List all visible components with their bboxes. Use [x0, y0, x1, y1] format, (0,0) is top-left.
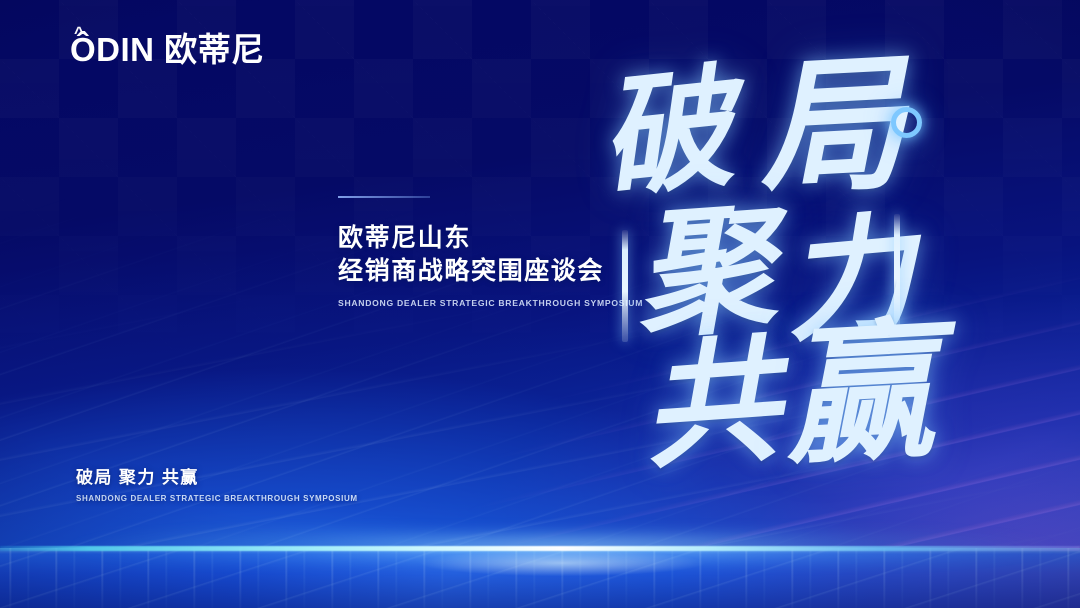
calligraphy-char-po: 破	[593, 61, 738, 206]
title-rule-divider	[338, 196, 430, 198]
calligraphy-char-gong: 共	[638, 332, 783, 477]
event-subtitle-en: SHANDONG DEALER STRATEGIC BREAKTHROUGH S…	[338, 298, 598, 308]
slogan-english: SHANDONG DEALER STRATEGIC BREAKTHROUGH S…	[76, 494, 358, 503]
calligraphy-headline: 破 局 聚 力 共 赢	[588, 52, 1008, 472]
logo-wordmark: ^ ÔDIN 欧蒂尼	[70, 33, 265, 66]
logo-circumflex-icon: ^	[74, 24, 84, 41]
horizon-light-line	[0, 546, 1080, 551]
slogan-chinese: 破局 聚力 共赢	[76, 468, 358, 488]
bottom-slogan-block: 破局 聚力 共赢 SHANDONG DEALER STRATEGIC BREAK…	[76, 468, 358, 503]
event-backdrop-poster: ^ ÔDIN 欧蒂尼 欧蒂尼山东 经销商战略突围座谈会 SHANDONG DEA…	[0, 0, 1080, 608]
event-title-line-1: 欧蒂尼山东	[338, 222, 598, 255]
brand-logo: ^ ÔDIN 欧蒂尼	[70, 33, 265, 66]
calligraphy-ring-icon	[891, 107, 922, 138]
calligraphy-bar-left	[622, 230, 628, 342]
calligraphy-char-ying: 赢	[780, 316, 938, 474]
event-title-block: 欧蒂尼山东 经销商战略突围座谈会 SHANDONG DEALER STRATEG…	[338, 196, 598, 308]
logo-wordmark-text: ÔDIN 欧蒂尼	[70, 31, 265, 68]
calligraphy-char-ju: 局	[754, 50, 907, 203]
event-title-line-2: 经销商战略突围座谈会	[338, 255, 598, 288]
